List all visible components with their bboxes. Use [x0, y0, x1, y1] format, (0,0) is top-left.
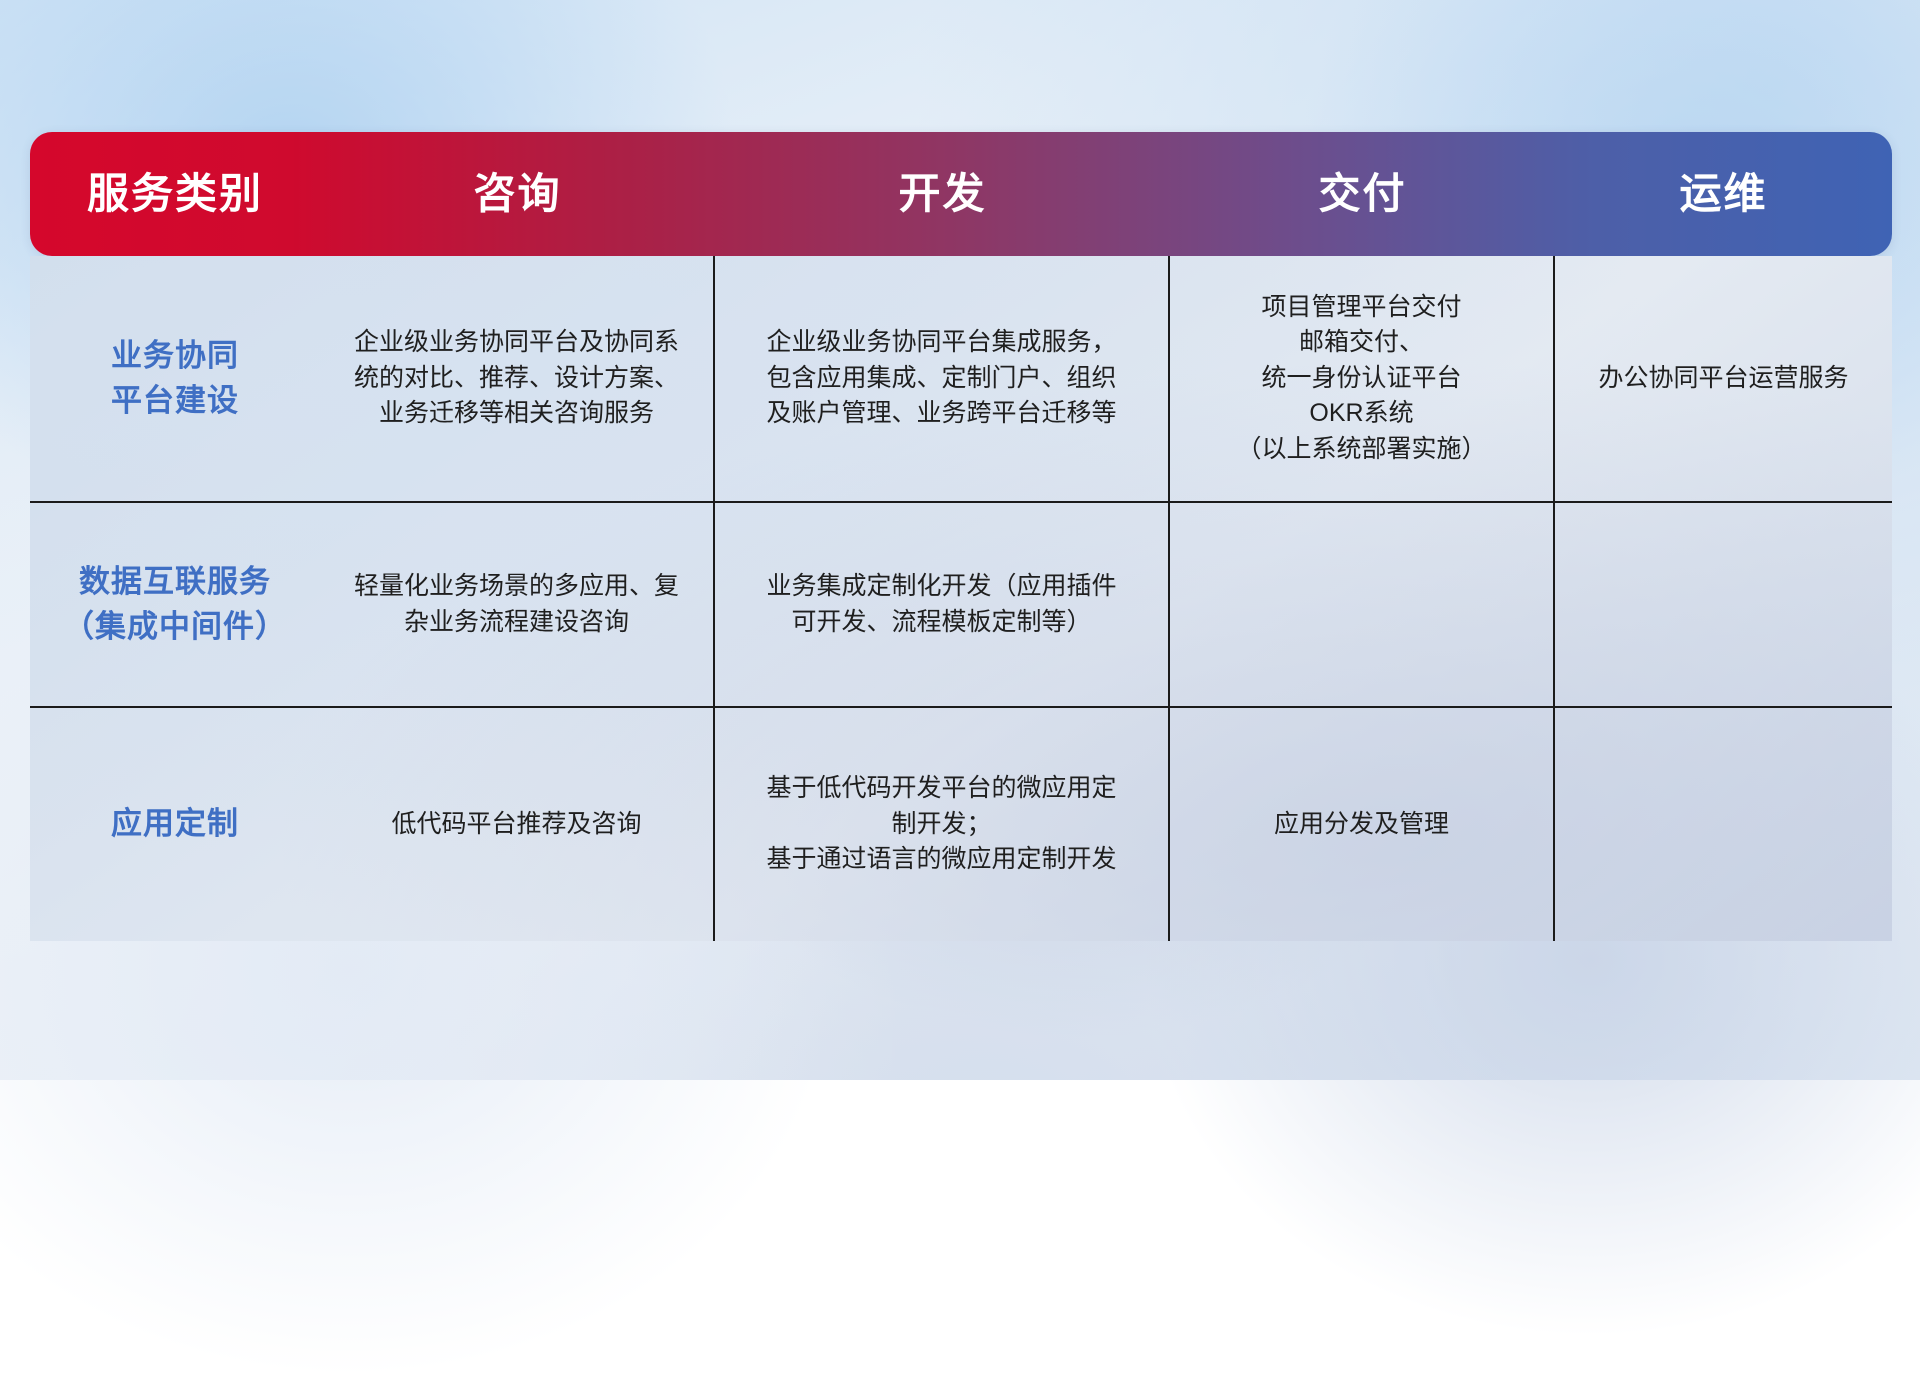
column-header-consulting: 咨询 — [320, 132, 715, 256]
cell-delivery-row1: 项目管理平台交付 邮箱交付、 统一身份认证平台 OKR系统 （以上系统部署实施） — [1170, 256, 1555, 501]
column-header-delivery: 交付 — [1170, 132, 1555, 256]
cell-operations-row1: 办公协同平台运营服务 — [1555, 256, 1892, 501]
column-header-operations: 运维 — [1555, 132, 1892, 256]
cell-delivery-row2 — [1170, 501, 1555, 706]
table-body: 业务协同 平台建设 企业级业务协同平台及协同系 统的对比、推荐、设计方案、 业务… — [30, 256, 1892, 941]
cell-development-row1: 企业级业务协同平台集成服务， 包含应用集成、定制门户、组织 及账户管理、业务跨平… — [715, 256, 1170, 501]
cell-consulting-row2: 轻量化业务场景的多应用、复 杂业务流程建设咨询 — [320, 501, 715, 706]
table-row: 数据互联服务 （集成中间件） 轻量化业务场景的多应用、复 杂业务流程建设咨询 业… — [30, 501, 1892, 706]
column-header-development: 开发 — [715, 132, 1170, 256]
cell-development-row3: 基于低代码开发平台的微应用定 制开发； 基于通过语言的微应用定制开发 — [715, 706, 1170, 941]
cell-development-row2: 业务集成定制化开发（应用插件 可开发、流程模板定制等） — [715, 501, 1170, 706]
row-label-data-integration: 数据互联服务 （集成中间件） — [30, 501, 320, 706]
cell-consulting-row3: 低代码平台推荐及咨询 — [320, 706, 715, 941]
cell-operations-row3 — [1555, 706, 1892, 941]
row-label-application-customization: 应用定制 — [30, 706, 320, 941]
table-row: 应用定制 低代码平台推荐及咨询 基于低代码开发平台的微应用定 制开发； 基于通过… — [30, 706, 1892, 941]
service-matrix-table: 服务类别 咨询 开发 交付 运维 业务协同 平台建设 企业级业务协同平台及协同系… — [30, 132, 1892, 941]
row-label-business-collaboration: 业务协同 平台建设 — [30, 256, 320, 501]
cell-operations-row2 — [1555, 501, 1892, 706]
table-row: 业务协同 平台建设 企业级业务协同平台及协同系 统的对比、推荐、设计方案、 业务… — [30, 256, 1892, 501]
cell-delivery-row3: 应用分发及管理 — [1170, 706, 1555, 941]
table-header-row: 服务类别 咨询 开发 交付 运维 — [30, 132, 1892, 256]
cell-consulting-row1: 企业级业务协同平台及协同系 统的对比、推荐、设计方案、 业务迁移等相关咨询服务 — [320, 256, 715, 501]
column-header-category: 服务类别 — [30, 132, 320, 256]
